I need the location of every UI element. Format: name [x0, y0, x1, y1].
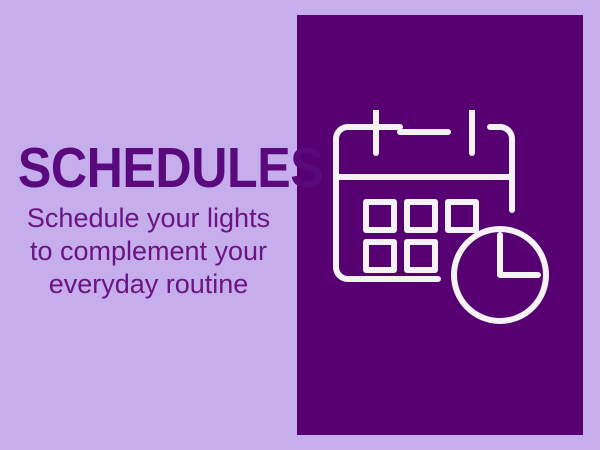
schedules-feature-slide: SCHEDULES Schedule your lights to comple…: [0, 0, 600, 450]
subtitle-line-1: Schedule your lights: [8, 202, 289, 235]
text-block: SCHEDULES Schedule your lights to comple…: [0, 140, 297, 301]
calendar-day-cell: [448, 202, 476, 230]
calendar-day-cell: [407, 202, 435, 230]
calendar-day-cell: [366, 202, 394, 230]
calendar-clock-icon: [330, 110, 560, 340]
calendar-day-cell: [366, 242, 394, 270]
calendar-day-cell: [407, 242, 435, 270]
subtitle-text: Schedule your lights to complement your …: [0, 196, 297, 301]
subtitle-line-2: to complement your: [8, 235, 289, 268]
calendar-body-right: [490, 127, 512, 210]
page-title: SCHEDULES: [18, 140, 279, 196]
subtitle-line-3: everyday routine: [8, 268, 289, 301]
